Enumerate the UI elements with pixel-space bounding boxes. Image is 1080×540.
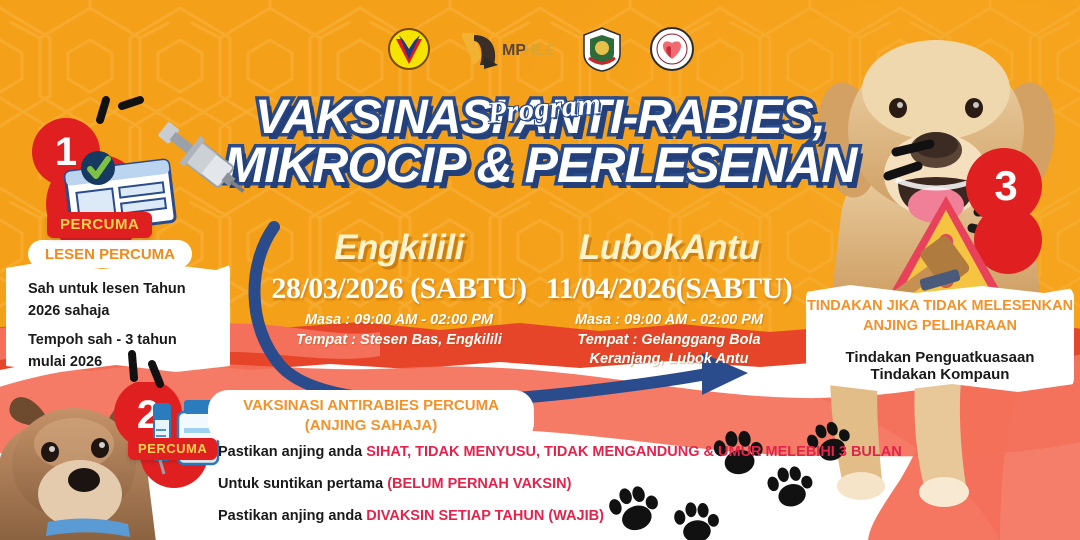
- lesen-percuma-label: LESEN PERCUMA: [45, 246, 175, 263]
- poster-root: MP HLG Program VAKSINASI ANTI-RABIES,: [0, 0, 1080, 540]
- section-1-line-1: Sah untuk lesen Tahun: [28, 278, 228, 300]
- list-item: Untuk suntikan pertama (BELUM PERNAH VAK…: [218, 476, 918, 492]
- svg-text:HLG: HLG: [524, 42, 554, 59]
- accent-dashes: [878, 130, 958, 190]
- venue-date: 11/04/2026(SABTU): [538, 272, 800, 306]
- section-3-header-line-1: TINDAKAN JIKA TIDAK MELESENKAN: [806, 296, 1074, 316]
- svg-text:MP: MP: [502, 42, 526, 59]
- list-item: Pastikan anjing anda DIVAKSIN SETIAP TAH…: [218, 508, 918, 524]
- section-1-line-2: 2026 sahaja: [28, 300, 228, 322]
- section-3-line-1: Tindakan Penguatkuasaan: [806, 349, 1074, 366]
- venue-place: Tempat : Gelanggang Bola Keranjang, Lubo…: [538, 331, 800, 370]
- section-3-number: 3: [994, 162, 1017, 210]
- section-2-header-line-2: (ANJING SAHAJA): [305, 416, 438, 436]
- section-2-percuma-label: PERCUMA: [138, 441, 207, 456]
- venue-place: Tempat : Stesen Bas, Engkilili: [268, 331, 530, 351]
- mphlg-logo: MP HLG: [458, 27, 554, 71]
- section-1-percuma-ribbon: PERCUMA: [47, 212, 152, 238]
- heart-emblem-logo: [650, 27, 694, 71]
- section-1-number-badge: 1: [32, 118, 100, 186]
- lesen-percuma-pill: LESEN PERCUMA: [28, 240, 192, 268]
- bullet-highlight-3: DIVAKSIN SETIAP TAHUN (WAJIB): [366, 508, 604, 524]
- list-item: Pastikan anjing anda SIHAT, TIDAK MENYUS…: [218, 444, 918, 460]
- section-3-header-line-2: ANJING PELIHARAAN: [806, 316, 1074, 336]
- bullet-plain-1: Pastikan anjing anda: [218, 444, 366, 460]
- logo-row: MP HLG: [0, 26, 1080, 72]
- section-3-number-badge: 3: [975, 155, 1037, 217]
- section-1-number: 1: [55, 130, 77, 175]
- accent-dashes: [88, 92, 148, 132]
- section-3-line-2: Tindakan Kompaun: [806, 366, 1074, 383]
- section-3-text: TINDAKAN JIKA TIDAK MELESENKAN ANJING PE…: [806, 296, 1074, 383]
- venue-name: LubokAntu: [538, 228, 800, 268]
- section-2-header-line-1: VAKSINASI ANTIRABIES PERCUMA: [243, 396, 499, 416]
- venue-name: Engkilili: [268, 228, 530, 268]
- bullet-highlight-2: (BELUM PERNAH VAKSIN): [387, 476, 571, 492]
- bullet-plain-2: Untuk suntikan pertama: [218, 476, 387, 492]
- section-2-bullets: Pastikan anjing anda SIHAT, TIDAK MENYUS…: [218, 444, 918, 540]
- venue-time: Masa : 09:00 AM - 02:00 PM: [538, 311, 800, 331]
- sarawak-state-crest-logo: [580, 26, 624, 72]
- bullet-highlight-1: SIHAT, TIDAK MENYUSU, TIDAK MENGANDUNG &…: [366, 444, 901, 460]
- venue-date: 28/03/2026 (SABTU): [268, 272, 530, 306]
- section-2-header-pill: VAKSINASI ANTIRABIES PERCUMA (ANJING SAH…: [208, 390, 534, 443]
- venue-engkilili: Engkilili 28/03/2026 (SABTU) Masa : 09:0…: [268, 228, 530, 350]
- venue-time: Masa : 09:00 AM - 02:00 PM: [268, 311, 530, 331]
- section-2-percuma-ribbon: PERCUMA: [128, 438, 217, 460]
- sarawak-veterinary-logo: [386, 26, 432, 72]
- venue-lubok-antu: LubokAntu 11/04/2026(SABTU) Masa : 09:00…: [538, 228, 800, 370]
- bullet-plain-3: Pastikan anjing anda: [218, 508, 366, 524]
- section-1-percuma-label: PERCUMA: [60, 216, 139, 233]
